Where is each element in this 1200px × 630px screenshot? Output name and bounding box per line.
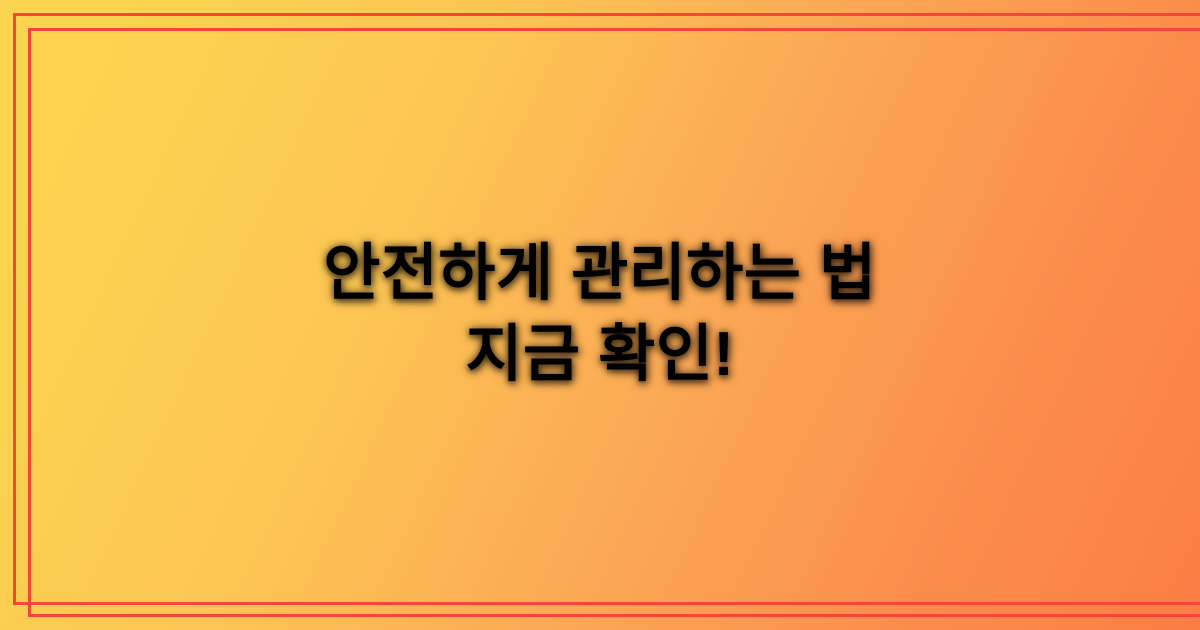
headline-container: 안전하게 관리하는 법 지금 확인! xyxy=(0,0,1200,630)
banner-headline-line-1: 안전하게 관리하는 법 xyxy=(323,234,876,315)
promo-banner: 안전하게 관리하는 법 지금 확인! xyxy=(0,0,1200,630)
banner-headline-line-2: 지금 확인! xyxy=(465,315,734,396)
